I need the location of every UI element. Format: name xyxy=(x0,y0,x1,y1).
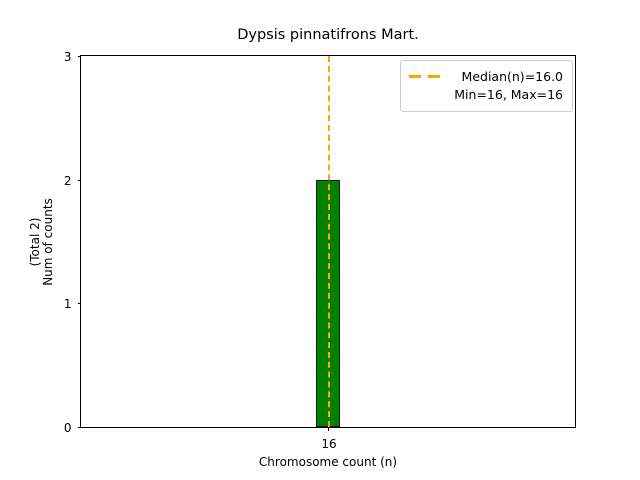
ytick-mark-0: 0 xyxy=(78,427,82,428)
xtick-mark-16: 16 xyxy=(328,427,329,431)
chart-figure: Dypsis pinnatifrons Mart. 0 1 2 3 16 Num… xyxy=(0,0,640,480)
ytick-label-1: 1 xyxy=(64,297,72,311)
ytick-label-2: 2 xyxy=(64,174,72,188)
legend-label-median: Median(n)=16.0 xyxy=(451,68,563,86)
chart-legend: Median(n)=16.0 Min=16, Max=16 xyxy=(400,60,573,112)
ylabel-total-text: (Total 2) xyxy=(28,217,42,266)
chart-title: Dypsis pinnatifrons Mart. xyxy=(80,28,576,44)
ytick-mark-2: 2 xyxy=(78,180,82,181)
median-line xyxy=(328,56,330,427)
legend-dashed-line-icon xyxy=(408,68,444,85)
ytick-label-0: 0 xyxy=(64,421,72,435)
ytick-mark-1: 1 xyxy=(78,303,82,304)
ytick-mark-3: 3 xyxy=(78,56,82,57)
legend-label-minmax: Min=16, Max=16 xyxy=(451,86,563,104)
ytick-label-3: 3 xyxy=(64,50,72,64)
xlabel-text: Chromosome count (n) xyxy=(80,455,576,469)
xtick-label-16: 16 xyxy=(321,437,336,451)
ylabel-text: Num of counts xyxy=(41,198,55,286)
legend-label-group: Median(n)=16.0 Min=16, Max=16 xyxy=(451,68,563,104)
